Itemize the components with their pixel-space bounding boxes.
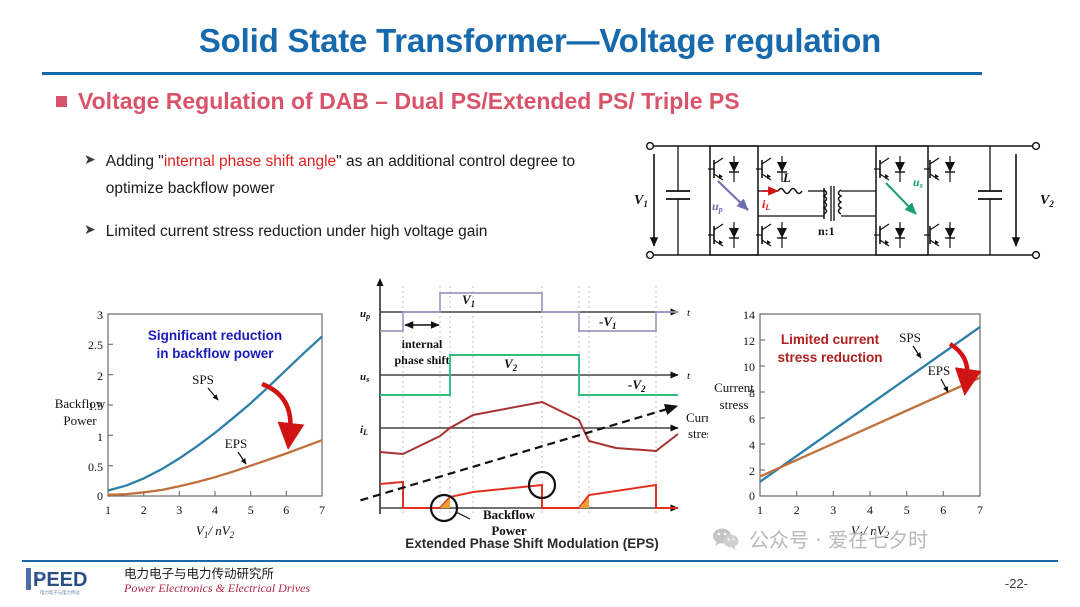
square-bullet-icon: [56, 96, 67, 107]
x-axis-ticks: 1 2 3 4 5 6 7: [757, 503, 983, 517]
bullet-text-highlight: internal phase shift angle: [164, 153, 336, 170]
peed-logo-text: PEED: [33, 569, 87, 591]
bullet-text: Limited current stress reduction under h…: [106, 218, 488, 245]
il-axis-label: iL: [360, 424, 368, 437]
v2-label: V2: [1040, 193, 1054, 209]
bullet-text-pre: Adding ": [106, 153, 164, 170]
slide-root: Solid State Transformer—Voltage regulati…: [0, 0, 1080, 607]
x-axis-label: V1/ nV2: [196, 523, 235, 540]
svg-text:0: 0: [97, 489, 103, 503]
svg-text:3: 3: [830, 503, 836, 517]
neg-v1-box-label: -V1: [599, 314, 617, 331]
v1-box-label: V1: [462, 292, 475, 309]
igbt-primary-bottom-left: [708, 222, 739, 248]
watermark-text: 公众号 · 爱在七夕时: [749, 524, 928, 553]
svg-text:1: 1: [757, 503, 763, 517]
svg-text:6: 6: [749, 412, 755, 426]
waveform-caption: Extended Phase Shift Modulation (EPS): [356, 536, 708, 551]
current-stress-label-line2: stress: [688, 426, 708, 441]
list-item: ➤ Limited current stress reduction under…: [84, 218, 604, 245]
svg-text:2: 2: [141, 503, 147, 517]
inductor-label: L: [782, 170, 791, 185]
terminal-positive-left: [647, 143, 654, 150]
section-heading-label: Voltage Regulation of DAB – Dual PS/Exte…: [78, 88, 740, 115]
footer: PEED 电力电子与电力传动 电力电子与电力传动研究所 Power Electr…: [26, 566, 310, 596]
neg-v2-box-label: -V2: [628, 377, 646, 394]
svg-text:2: 2: [794, 503, 800, 517]
backflow-area-2: [579, 497, 589, 508]
y-axis-label-line2: stress: [720, 397, 749, 412]
arrow-bullet-icon: ➤: [84, 218, 96, 245]
us-axis-label: us: [360, 371, 369, 384]
us-label: us: [913, 175, 923, 190]
wechat-icon: [712, 527, 740, 551]
svg-text:6: 6: [283, 503, 289, 517]
y-axis-label-line2: Power: [63, 413, 97, 428]
svg-text:2.5: 2.5: [88, 338, 103, 352]
svg-text:1: 1: [105, 503, 111, 517]
svg-text:3: 3: [97, 308, 103, 322]
eps-waveform-diagram: t up V1 -V1 internal phase shift t us V2…: [356, 276, 708, 536]
up-axis-label: up: [360, 308, 370, 321]
igbt-primary-top-left: [708, 156, 739, 182]
arrow-bullet-icon: ➤: [84, 148, 96, 202]
svg-text:4: 4: [749, 438, 755, 452]
backflow-power-chart: 3 2.5 2 1.5 1 0.5 0 1 2 3 4 5 6 7: [40, 292, 340, 542]
page-number: -22-: [1005, 576, 1028, 591]
svg-text:14: 14: [743, 308, 755, 322]
svg-text:0: 0: [749, 489, 755, 503]
peed-logo: PEED 电力电子与电力传动: [26, 566, 112, 596]
internal-phase-shift-label-line1: internal: [402, 337, 443, 351]
svg-text:2: 2: [97, 369, 103, 383]
svg-text:1: 1: [97, 430, 103, 444]
series-label-sps: SPS: [899, 330, 921, 345]
bullet-list: ➤ Adding "internal phase shift angle" as…: [84, 148, 604, 261]
us-axis-time-label: t: [687, 370, 691, 382]
vertical-axis-arrowhead: [377, 278, 384, 286]
backflow-power-label-line1: Backflow: [483, 507, 536, 522]
svg-text:4: 4: [212, 503, 218, 517]
up-label: up: [712, 199, 723, 214]
page-title: Solid State Transformer—Voltage regulati…: [0, 22, 1080, 60]
igbt-secondary-top-right: [924, 156, 955, 182]
series-label-sps: SPS: [192, 372, 214, 387]
turns-ratio-label: n:1: [818, 224, 835, 238]
title-divider: [42, 72, 982, 75]
svg-text:3: 3: [176, 503, 182, 517]
igbt-primary-bottom-right: [756, 222, 787, 248]
svg-text:5: 5: [904, 503, 910, 517]
org-name-en: Power Electronics & Electrical Drives: [124, 581, 310, 596]
terminal-negative-left: [647, 252, 654, 259]
y-axis-label-line1: Current: [714, 380, 754, 395]
current-stress-label-line1: Current: [686, 410, 708, 425]
backflow-leader-line: [456, 512, 470, 519]
current-stress-chart: 14 12 10 8 6 4 2 0 1 2 3 4 5 6 7: [712, 292, 1002, 542]
v2-box-label: V2: [504, 356, 518, 373]
dab-circuit-diagram: V1 V2 L: [628, 138, 1058, 263]
igbt-secondary-top-left: [874, 156, 905, 182]
chart-annotation-line2: stress reduction: [777, 350, 882, 365]
svg-text:2: 2: [749, 464, 755, 478]
svg-text:5: 5: [248, 503, 254, 517]
internal-phase-shift-label-line2: phase shift: [394, 353, 449, 367]
svg-text:4: 4: [867, 503, 873, 517]
chart-annotation-line1: Significant reduction: [148, 328, 282, 343]
backflow-power-label-line2: Power: [491, 523, 527, 536]
y-axis-label-line1: Backflow: [55, 396, 106, 411]
svg-text:6: 6: [940, 503, 946, 517]
terminal-negative-right: [1033, 252, 1040, 259]
bullet-text: Adding "internal phase shift angle" as a…: [106, 148, 604, 202]
chart-annotation-line2: in backflow power: [156, 346, 274, 361]
il-label: iL: [762, 197, 770, 212]
series-label-eps: EPS: [225, 436, 247, 451]
chart-annotation-line1: Limited current: [781, 332, 880, 347]
transformer-secondary-winding: [839, 190, 842, 214]
svg-text:7: 7: [319, 503, 325, 517]
series-label-eps: EPS: [928, 363, 950, 378]
svg-text:0.5: 0.5: [88, 460, 103, 474]
inductor-L: [778, 189, 802, 194]
x-axis-ticks: 1 2 3 4 5 6 7: [105, 503, 325, 517]
footer-divider: [22, 560, 1058, 562]
us-arrow: [886, 183, 916, 214]
peed-logo-subtext: 电力电子与电力传动: [40, 589, 80, 596]
terminal-positive-right: [1033, 143, 1040, 150]
svg-text:10: 10: [743, 360, 755, 374]
watermark: 公众号 · 爱在七夕时: [712, 524, 928, 553]
svg-text:7: 7: [977, 503, 983, 517]
list-item: ➤ Adding "internal phase shift angle" as…: [84, 148, 604, 202]
igbt-secondary-bottom-left: [874, 222, 905, 248]
svg-text:12: 12: [743, 334, 755, 348]
org-name-cn: 电力电子与电力传动研究所: [124, 566, 310, 581]
v1-label: V1: [634, 193, 648, 209]
backflow-area-1: [440, 498, 450, 508]
section-heading: Voltage Regulation of DAB – Dual PS/Exte…: [56, 88, 740, 115]
up-axis-time-label: t: [687, 307, 691, 319]
igbt-secondary-bottom-right: [924, 222, 955, 248]
